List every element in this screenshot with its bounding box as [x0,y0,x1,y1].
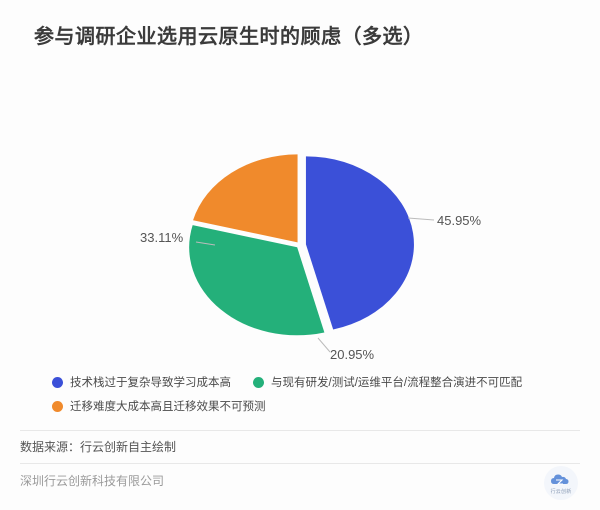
pie-slices [189,154,414,335]
footer-divider [20,463,580,464]
source-divider [20,430,580,431]
footer-company: 深圳行云创新科技有限公司 [20,472,164,489]
slice-value-label-1: 33.11% [140,230,183,245]
pie-slice-0[interactable] [306,156,414,329]
pie-chart: 45.95% 33.11% 20.95% [0,70,600,360]
legend: 技术栈过于复杂导致学习成本高 与现有研发/测试/运维平台/流程整合演进不可匹配 … [52,374,572,422]
logo-text: 行云创新 [544,488,578,495]
chart-page: 参与调研企业选用云原生时的顾虑（多选） 45.95% 33.11% 20.95%… [0,0,600,510]
company-logo: 行云创新 [544,466,578,500]
legend-item-2[interactable]: 迁移难度大成本高且迁移效果不可预测 [52,398,266,414]
page-title: 参与调研企业选用云原生时的顾虑（多选） [34,20,424,49]
legend-item-0[interactable]: 技术栈过于复杂导致学习成本高 [52,374,231,390]
source-note: 数据来源：行云创新自主绘制 [20,438,176,455]
legend-row-2: 迁移难度大成本高且迁移效果不可预测 [52,398,572,414]
legend-label-1: 与现有研发/测试/运维平台/流程整合演进不可匹配 [271,374,522,390]
slice-value-label-2: 20.95% [330,347,374,362]
source-label: 数据来源： [20,440,80,454]
pie-chart-svg [0,70,600,360]
source-value: 行云创新自主绘制 [80,440,176,454]
legend-color-dot-icon-1 [253,377,264,388]
legend-row-1: 技术栈过于复杂导致学习成本高 与现有研发/测试/运维平台/流程整合演进不可匹配 [52,374,572,390]
pie-slice-1[interactable] [189,225,324,335]
legend-item-1[interactable]: 与现有研发/测试/运维平台/流程整合演进不可匹配 [253,374,522,390]
legend-color-dot-icon-2 [52,401,63,412]
slice-value-label-0: 45.95% [437,213,481,228]
legend-label-2: 迁移难度大成本高且迁移效果不可预测 [70,398,266,414]
legend-label-0: 技术栈过于复杂导致学习成本高 [70,374,231,390]
legend-color-dot-icon-0 [52,377,63,388]
